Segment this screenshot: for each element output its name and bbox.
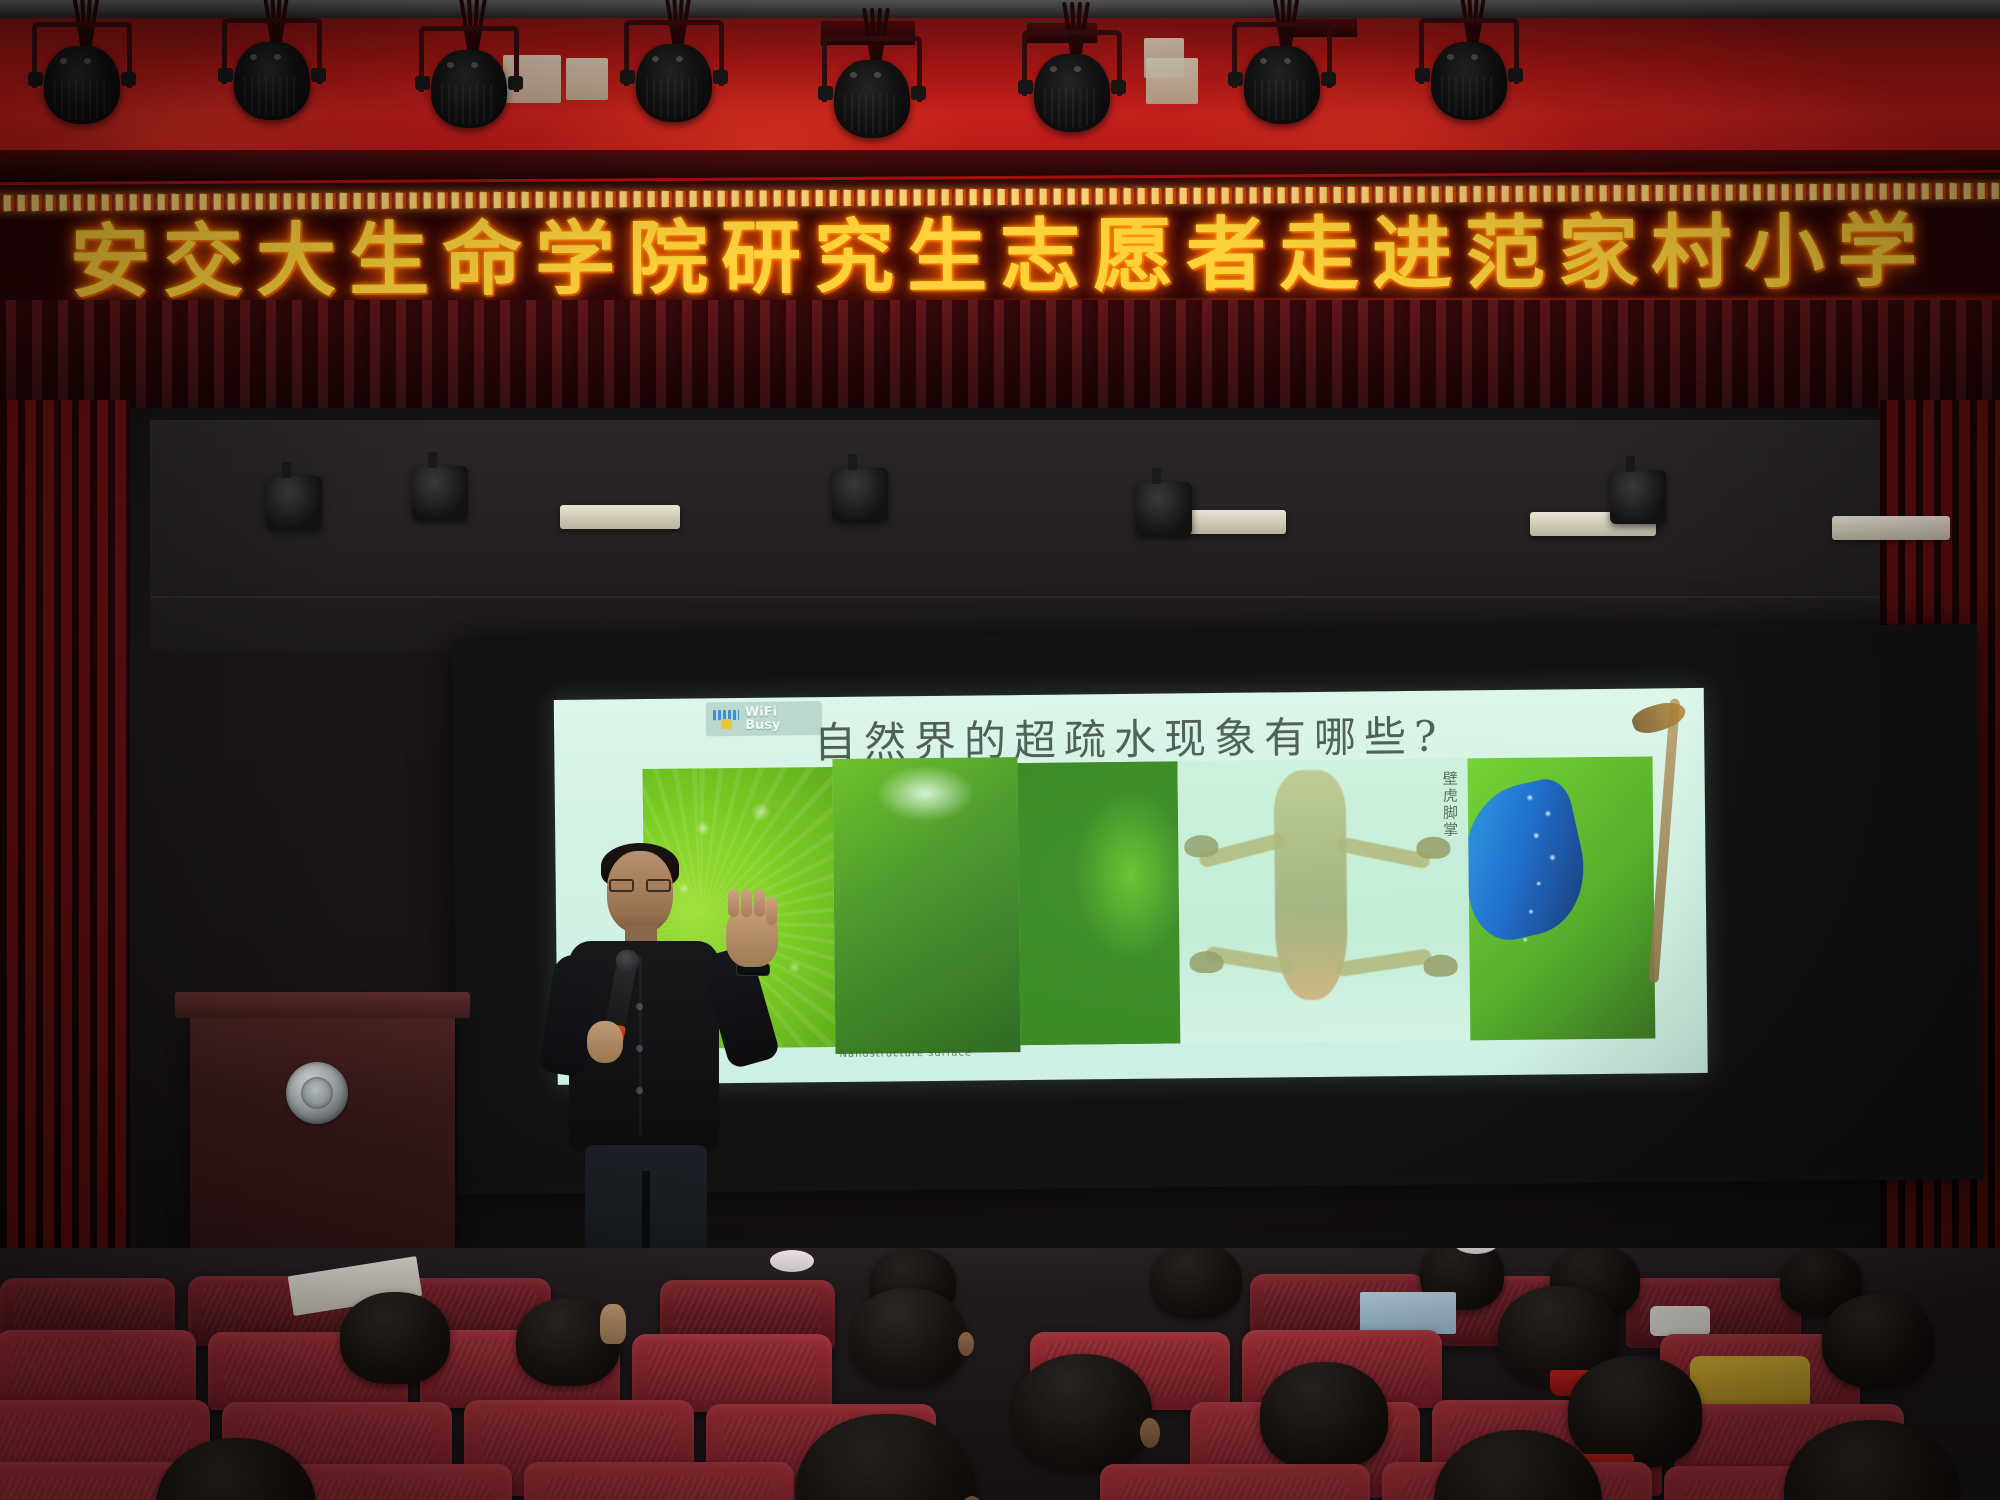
- light-knob: [1321, 72, 1336, 86]
- speaker-left-hand: [587, 1021, 623, 1063]
- light-body: [1431, 42, 1507, 120]
- light-body: [1244, 46, 1320, 124]
- gecko-foot: [1416, 837, 1450, 859]
- ceiling-light-fixture: [1832, 516, 1950, 540]
- student-head: [1260, 1362, 1388, 1470]
- light-body: [1034, 54, 1110, 132]
- ceiling-spotlight: [266, 476, 322, 530]
- shirt-button: [636, 1087, 643, 1094]
- light-bolt: [250, 54, 257, 60]
- stage-light: [28, 14, 136, 134]
- stage-light: [620, 12, 728, 132]
- light-bolt: [60, 58, 67, 64]
- led-banner: 安交大生命学院研究生志愿者走进范家村小学: [0, 170, 2000, 312]
- light-bolt: [1447, 54, 1454, 60]
- light-bolt: [1260, 58, 1267, 64]
- gecko-foot: [1184, 835, 1218, 857]
- side-curtain-left: [0, 400, 130, 1300]
- light-bolt: [274, 54, 281, 60]
- ceiling-spotlight: [1610, 470, 1666, 524]
- light-body: [234, 42, 310, 120]
- green-leaf-image: [1017, 761, 1180, 1045]
- student-head: [1150, 1248, 1242, 1318]
- student-ear: [1140, 1418, 1160, 1448]
- light-body: [431, 50, 507, 128]
- theater-seat: [524, 1462, 794, 1500]
- auditorium-photo-scene: 安交大生命学院研究生志愿者走进范家村小学 WiFi Busy 自然界的超: [0, 0, 2000, 1500]
- light-knob: [311, 68, 326, 82]
- light-bolt: [84, 58, 91, 64]
- ceiling-spotlight: [1136, 482, 1192, 536]
- shirt-button: [636, 1003, 643, 1010]
- stage-light: [1228, 14, 1336, 134]
- white-collar: [1650, 1306, 1710, 1336]
- light-bolt: [850, 72, 857, 78]
- gecko-annotation: 壁虎脚掌: [1440, 770, 1458, 838]
- wall-seam: [150, 596, 1910, 598]
- ceiling-spotlight: [832, 468, 888, 522]
- light-bolt: [471, 62, 478, 68]
- light-knob: [713, 70, 728, 84]
- proscenium-curtain: [0, 300, 2000, 420]
- light-knob: [1415, 68, 1430, 82]
- student-head: [1822, 1294, 1934, 1388]
- light-knob: [1018, 80, 1033, 94]
- light-knob: [218, 68, 233, 82]
- student-ear: [958, 1332, 974, 1356]
- slide-image-caption: Nanostructure surface: [839, 1048, 972, 1060]
- butterfly-wing-spots: [1516, 787, 1598, 978]
- gecko-on-glass-image: 壁虎脚掌: [1177, 758, 1470, 1043]
- light-knob: [818, 86, 833, 100]
- student-head: [1568, 1356, 1702, 1468]
- light-knob: [620, 70, 635, 84]
- stage-light: [818, 28, 926, 148]
- butterfly-on-leaf-image: 荷叶上的昆虫: [1467, 756, 1655, 1040]
- stage-light: [1415, 10, 1523, 130]
- light-knob: [1508, 68, 1523, 82]
- university-crest-emblem: [286, 1062, 348, 1124]
- light-bolt: [1284, 58, 1291, 64]
- light-knob: [508, 76, 523, 90]
- ceiling-panel: [1146, 58, 1198, 104]
- light-knob: [911, 86, 926, 100]
- ceiling-light-fixture: [560, 505, 680, 529]
- shirt-button: [636, 1045, 643, 1052]
- light-knob: [1228, 72, 1243, 86]
- light-bolt: [1471, 54, 1478, 60]
- light-knob: [121, 72, 136, 86]
- lectern-podium: [190, 1010, 455, 1260]
- theater-seat: [1100, 1464, 1370, 1500]
- light-bolt: [447, 62, 454, 68]
- light-bolt: [652, 56, 659, 62]
- ceiling-spotlight: [412, 466, 468, 520]
- gecko-leg: [1335, 948, 1432, 977]
- light-body: [44, 46, 120, 124]
- stage-light: [218, 10, 326, 130]
- light-knob: [28, 72, 43, 86]
- presenter-speaker: [545, 845, 760, 1265]
- light-bolt: [1050, 66, 1057, 72]
- light-bolt: [1074, 66, 1081, 72]
- blue-paper-sheet: [1360, 1292, 1456, 1334]
- speaker-raised-hand: [726, 905, 778, 967]
- student-head: [340, 1292, 450, 1384]
- light-body: [834, 60, 910, 138]
- student-head: [1012, 1354, 1152, 1470]
- glasses-icon: [609, 879, 671, 892]
- light-bolt: [676, 56, 683, 62]
- audience-area: [0, 1248, 2000, 1500]
- light-knob: [1111, 80, 1126, 94]
- raised-hand: [600, 1304, 626, 1344]
- led-banner-text: 安交大生命学院研究生志愿者走进范家村小学: [0, 203, 2000, 311]
- light-knob: [415, 76, 430, 90]
- speaker-head: [607, 851, 673, 933]
- stage-light: [1018, 22, 1126, 142]
- podium-top-surface: [175, 992, 470, 1018]
- theater-seat: [0, 1330, 196, 1408]
- student-head: [850, 1288, 966, 1386]
- ceiling-panel: [566, 58, 608, 100]
- hair-bow: [770, 1250, 814, 1272]
- stage-light: [415, 18, 523, 138]
- light-bolt: [874, 72, 881, 78]
- lotus-leaf-closeup-image: [832, 757, 1020, 1054]
- gecko-foot: [1423, 954, 1457, 976]
- light-body: [636, 44, 712, 122]
- gecko-foot: [1189, 951, 1223, 973]
